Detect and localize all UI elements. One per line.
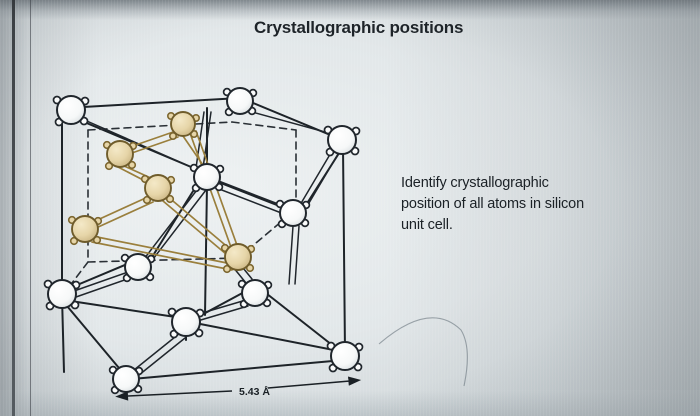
atom-white xyxy=(45,280,80,310)
atom-white xyxy=(191,164,224,191)
atom-white xyxy=(224,88,257,115)
atom-white xyxy=(54,96,89,126)
atom-white xyxy=(239,280,272,307)
atom-white xyxy=(110,366,143,393)
atom-tan xyxy=(104,141,137,169)
atom-white xyxy=(169,308,204,338)
atom-tan xyxy=(142,175,175,203)
instruction-text: Identify crystallographic position of al… xyxy=(401,173,663,236)
instruction-line: position of all atoms in silicon xyxy=(401,194,663,215)
atom-white xyxy=(325,126,360,156)
instruction-line: unit cell. xyxy=(401,215,663,236)
page-title: Crystallographic positions xyxy=(254,18,463,38)
atom-tan xyxy=(69,216,102,244)
lattice-parameter-label: 5.43 Å xyxy=(239,386,270,398)
atom-tan xyxy=(222,244,255,272)
instruction-line: Identify crystallographic xyxy=(401,173,663,194)
pencil-arc-annotation xyxy=(379,318,467,386)
atom-white xyxy=(122,254,155,281)
atom-white xyxy=(328,342,363,372)
slide-photo: Crystallographic positions Identify crys… xyxy=(0,0,700,416)
atom-white xyxy=(277,200,310,227)
atom-tan xyxy=(168,112,199,139)
